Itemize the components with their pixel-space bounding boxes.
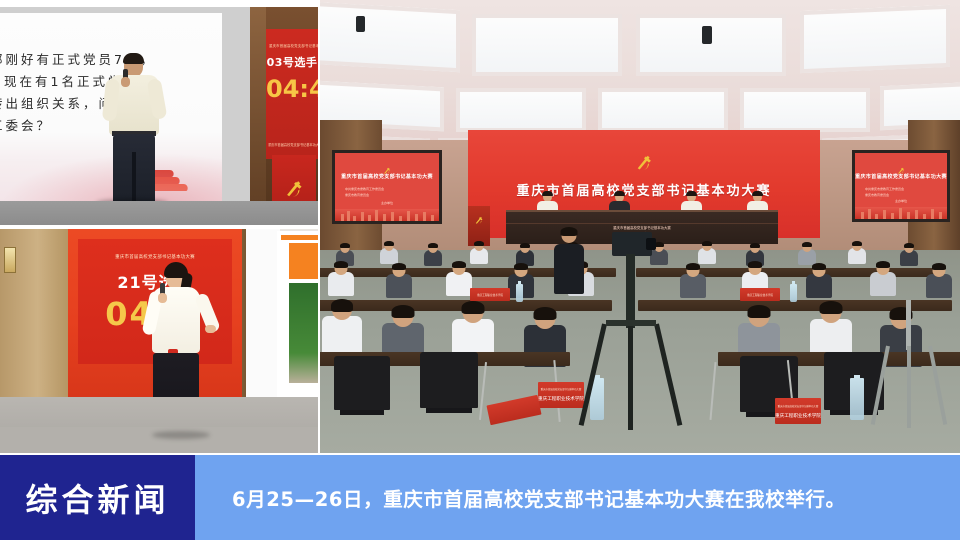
desk-placard-text: 重庆工程职业技术学院: [740, 293, 780, 297]
ceiling-panel: [598, 88, 728, 132]
news-category-badge: 综合新闻: [0, 455, 195, 540]
ceiling-projector-icon: [702, 26, 712, 44]
side-screen-subtitle-1: 中共重庆市委教育工作委员会: [345, 187, 429, 192]
audience-person: [810, 302, 852, 356]
skyline-graphic: [855, 207, 947, 219]
audience-person: [848, 242, 866, 262]
side-screen-right: 重庆市首届高校党支部书记基本功大赛 中共重庆市委教育工作委员会 重庆市教育委员会…: [852, 150, 950, 222]
caption-text: 6月25—26日，重庆市首届高校党支部书记基本功大赛在我校举行。: [232, 483, 846, 512]
ccp-hammer-sickle-icon: [897, 160, 906, 169]
ceiling-panel: [320, 2, 460, 72]
side-screen-footer: 主办单位: [335, 201, 439, 205]
water-bottle: [850, 378, 864, 420]
contestant-timer-display: 重庆市首届高校党支部书记基本功大赛 03号选手 04:4 重庆市首届高校党支部书…: [266, 29, 318, 159]
ceiling-panel: [636, 14, 786, 76]
ccp-hammer-sickle-icon: [634, 152, 654, 172]
photographer-figure: [552, 228, 586, 302]
desk-placard-header: 重庆市首届高校党支部书记基本功大赛: [538, 387, 584, 391]
stage-lectern: [468, 206, 490, 246]
wall-white-panel: [246, 229, 280, 425]
ceiling-panel: [740, 88, 870, 132]
judges-table-label-1: 重庆市首届高校党支部书记基本功大赛: [590, 226, 694, 231]
audience-person: [900, 244, 918, 264]
side-screen-title: 重庆市首届高校党支部书记基本功大赛: [855, 173, 947, 180]
side-screen-title: 重庆市首届高校党支部书记基本功大赛: [335, 173, 439, 180]
audience-person: [926, 264, 952, 294]
photo-male-contestant: 部刚好有正式党员7名， 现在有1名正式党员 转出组织关系，问你 工委会？: [0, 7, 318, 225]
ceiling-panel: [456, 88, 586, 132]
side-screen-left: 重庆市首届高校党支部书记基本功大赛 中共重庆市委教育工作委员会 重庆市教育委员会…: [332, 150, 442, 224]
desk-placard-text: 重庆工程职业技术学院: [538, 396, 584, 402]
timer-display-footer: 重庆市首届高校党支部书记基本功大赛: [268, 142, 316, 147]
desk-placard-text: 重庆工程职业技术学院: [775, 413, 821, 419]
desk-placard: 重庆市首届高校党支部书记基本功大赛 重庆工程职业技术学院: [775, 398, 821, 424]
ccp-hammer-sickle-icon: [474, 210, 484, 220]
audience-person: [452, 302, 494, 356]
news-category-label: 综合新闻: [25, 475, 169, 521]
side-screen-subtitle-1: 中共重庆市委教育工作委员会: [865, 187, 937, 192]
audience-person: [698, 242, 716, 262]
audience-person: [798, 243, 816, 263]
caption-text-wrap: 6月25—26日，重庆市首届高校党支部书记基本功大赛在我校举行。: [232, 455, 846, 540]
backdrop-header: 重庆市首届高校党支部书记基本功大赛: [78, 254, 232, 260]
audience-person: [386, 264, 412, 294]
desk-placard-text: 重庆工程职业技术学院: [470, 293, 510, 297]
figure-shadow: [152, 431, 210, 439]
page-root: 部刚好有正式党员7名， 现在有1名正式党员 转出组织关系，问你 工委会？: [0, 0, 960, 540]
ceiling-panel: [800, 5, 950, 73]
left-photo-column: 部刚好有正式党员7名， 现在有1名正式党员 转出组织关系，问你 工委会？: [0, 0, 318, 453]
stage-floor-front: [0, 427, 318, 453]
foreground-chair: [420, 352, 478, 408]
audience-person: [870, 262, 896, 292]
audience-person: [328, 262, 354, 292]
ccp-hammer-sickle-icon: [283, 177, 305, 199]
camera-tripod: [880, 300, 940, 430]
wall-lamp: [4, 247, 16, 273]
timer-display-clock: 04:4: [266, 75, 318, 103]
side-screen-subtitle-2: 重庆市教育委员会: [345, 193, 429, 198]
photo-competition-hall: 重庆市首届高校党支部书记基本功大赛 中共重庆市委教育工作委员会 重庆市教育委员会…: [320, 0, 960, 453]
ceiling-panel: [472, 14, 622, 76]
audience-person: [806, 264, 832, 294]
audience-person: [516, 244, 534, 264]
desk-placard: 重庆市首届高校党支部书记基本功大赛 重庆工程职业技术学院: [538, 382, 584, 408]
side-screen-subtitle-2: 重庆市教育委员会: [865, 193, 937, 198]
foreground-chair: [334, 356, 390, 410]
water-bottle: [516, 284, 523, 302]
caption-bar: 综合新闻 6月25—26日，重庆市首届高校党支部书记基本功大赛在我校举行。: [0, 455, 960, 540]
side-screen-footer: 主办单位: [855, 199, 947, 203]
timer-display-contestant: 03号选手: [266, 54, 318, 70]
stage-floor: [0, 201, 318, 225]
camera-tripod: [596, 254, 666, 430]
audience-person: [446, 262, 472, 292]
audience-person: [322, 300, 362, 352]
audience-person: [380, 242, 398, 262]
skyline-graphic: [335, 209, 439, 221]
audience-person: [424, 244, 442, 264]
male-speaker-figure: [104, 55, 164, 215]
audience-person: [470, 242, 488, 262]
ccp-hammer-sickle-icon: [383, 160, 392, 169]
desk-placard: 重庆工程职业技术学院: [740, 288, 780, 301]
ceiling-projector-icon: [356, 16, 365, 32]
timer-display-header: 重庆市首届高校党支部书记基本功大赛: [269, 43, 315, 48]
desk-placard: 重庆工程职业技术学院: [470, 288, 510, 301]
desk-placard-header: 重庆市首届高校党支部书记基本功大赛: [775, 404, 821, 408]
photo-female-contestant: 重庆市首届高校党支部书记基本功大赛 21号选手 04:2: [0, 229, 318, 453]
camera-lens-icon: [646, 238, 656, 250]
audience-person: [680, 264, 706, 294]
wall-right-trim: [250, 7, 266, 225]
water-bottle: [790, 284, 797, 302]
